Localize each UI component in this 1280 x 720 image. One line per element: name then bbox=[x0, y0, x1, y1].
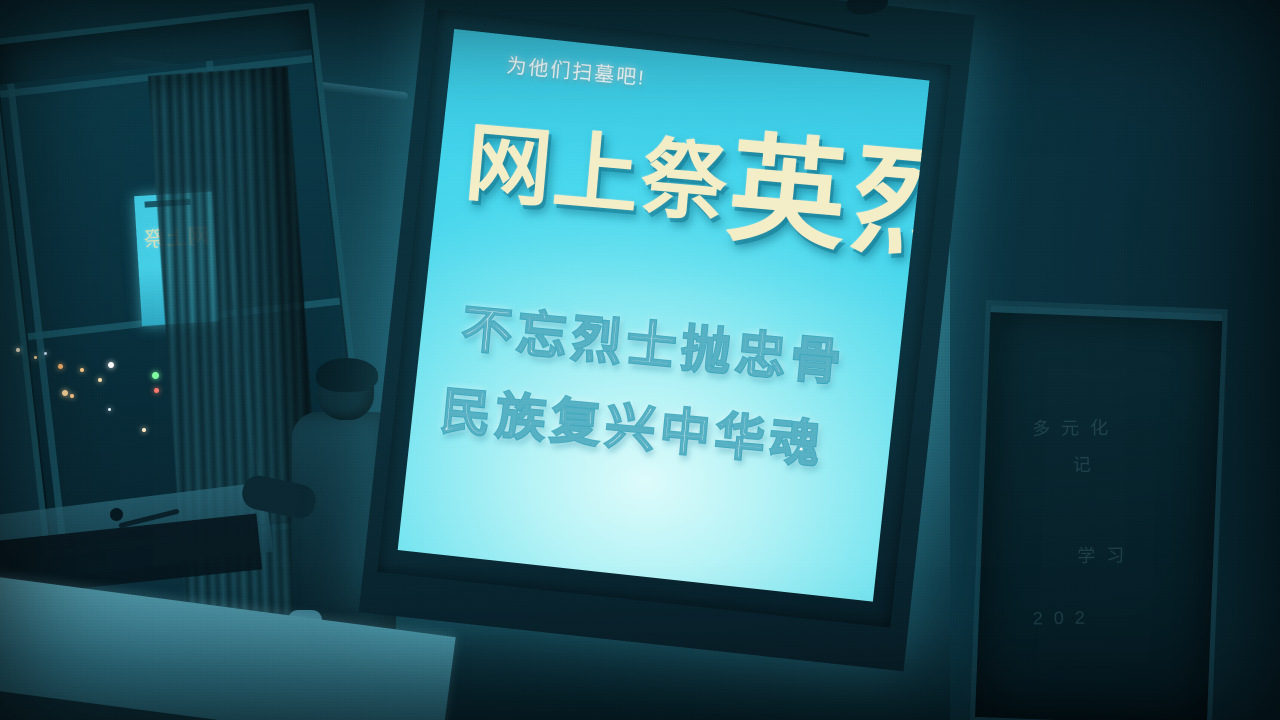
city-light bbox=[16, 348, 20, 352]
city-light bbox=[70, 394, 74, 398]
blackboard: 多 元 化 记 2 0 2 学 习 bbox=[970, 300, 1228, 720]
chalk-mark: 多 元 化 bbox=[1032, 414, 1111, 441]
person-hair bbox=[316, 358, 378, 392]
city-light bbox=[154, 388, 159, 393]
city-light bbox=[58, 364, 63, 369]
city-light bbox=[62, 390, 68, 396]
projection-screen: 为他们扫墓吧! 网上祭英烈 不忘烈士抛忠骨 民族复兴中华魂 bbox=[359, 0, 975, 671]
chalk-mark: 记 bbox=[1073, 451, 1094, 477]
city-light bbox=[108, 362, 114, 368]
city-light bbox=[98, 378, 102, 382]
slide-title-part2: 英烈 bbox=[723, 124, 930, 276]
screen-projection-area: 为他们扫墓吧! 网上祭英烈 不忘烈士抛忠骨 民族复兴中华魂 bbox=[398, 29, 930, 602]
chalk-mark: 学 习 bbox=[1077, 541, 1127, 568]
screen-bezel: 为他们扫墓吧! 网上祭英烈 不忘烈士抛忠骨 民族复兴中华魂 bbox=[377, 9, 951, 627]
city-light bbox=[152, 372, 159, 379]
slide-subtitle-line1: 不忘烈士抛忠骨 bbox=[460, 303, 893, 392]
city-light bbox=[142, 428, 146, 432]
slide-subtitle-line2: 民族复兴中华魂 bbox=[439, 386, 872, 475]
photo-scene: 网上祭 多 元 化 记 2 0 2 学 习 为他们扫墓吧! 网上祭英 bbox=[0, 0, 1280, 720]
chalk-mark: 2 0 2 bbox=[1033, 608, 1088, 630]
city-light bbox=[34, 356, 37, 359]
city-light bbox=[44, 352, 47, 355]
city-light bbox=[108, 408, 111, 411]
slide-title-part1: 网上祭 bbox=[462, 115, 733, 234]
city-light bbox=[80, 368, 84, 372]
microphone-head bbox=[110, 508, 123, 521]
